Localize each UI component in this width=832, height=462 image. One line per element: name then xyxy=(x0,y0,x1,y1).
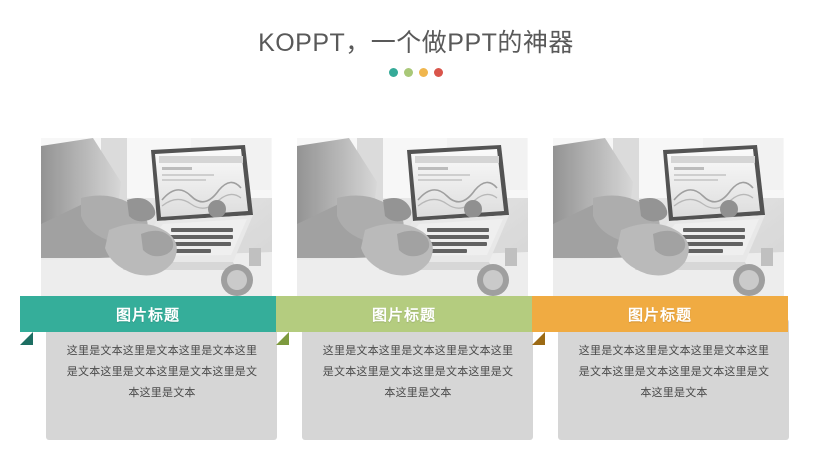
laptop-typing-photo xyxy=(297,138,528,298)
card-body-text: 这里是文本这里是文本这里是文本这里是文本这里是文本这里是文本这里是文本这里是文本 xyxy=(576,341,772,404)
card-banner-label: 图片标题 xyxy=(116,304,180,325)
card-banner-label: 图片标题 xyxy=(628,304,692,325)
card-body-box: 这里是文本这里是文本这里是文本这里是文本这里是文本这里是文本这里是文本这里是文本 xyxy=(46,319,277,440)
card-body-box: 这里是文本这里是文本这里是文本这里是文本这里是文本这里是文本这里是文本这里是文本 xyxy=(558,319,789,440)
banner-fold-icon xyxy=(276,332,289,345)
content-card[interactable]: 这里是文本这里是文本这里是文本这里是文本这里是文本这里是文本这里是文本这里是文本… xyxy=(532,138,788,440)
banner-fold-icon xyxy=(532,332,545,345)
card-banner[interactable]: 图片标题 xyxy=(276,296,532,332)
card-banner-label: 图片标题 xyxy=(372,304,436,325)
banner-fold-icon xyxy=(20,332,33,345)
card-body-box: 这里是文本这里是文本这里是文本这里是文本这里是文本这里是文本这里是文本这里是文本 xyxy=(302,319,533,440)
card-banner[interactable]: 图片标题 xyxy=(532,296,788,332)
card-body-text: 这里是文本这里是文本这里是文本这里是文本这里是文本这里是文本这里是文本这里是文本 xyxy=(320,341,516,404)
content-card[interactable]: 这里是文本这里是文本这里是文本这里是文本这里是文本这里是文本这里是文本这里是文本… xyxy=(20,138,276,440)
laptop-typing-photo xyxy=(553,138,784,298)
cards-row: 这里是文本这里是文本这里是文本这里是文本这里是文本这里是文本这里是文本这里是文本… xyxy=(0,0,832,462)
card-banner[interactable]: 图片标题 xyxy=(20,296,276,332)
card-body-text: 这里是文本这里是文本这里是文本这里是文本这里是文本这里是文本这里是文本这里是文本 xyxy=(64,341,260,404)
content-card[interactable]: 这里是文本这里是文本这里是文本这里是文本这里是文本这里是文本这里是文本这里是文本… xyxy=(276,138,532,440)
laptop-typing-photo xyxy=(41,138,272,298)
